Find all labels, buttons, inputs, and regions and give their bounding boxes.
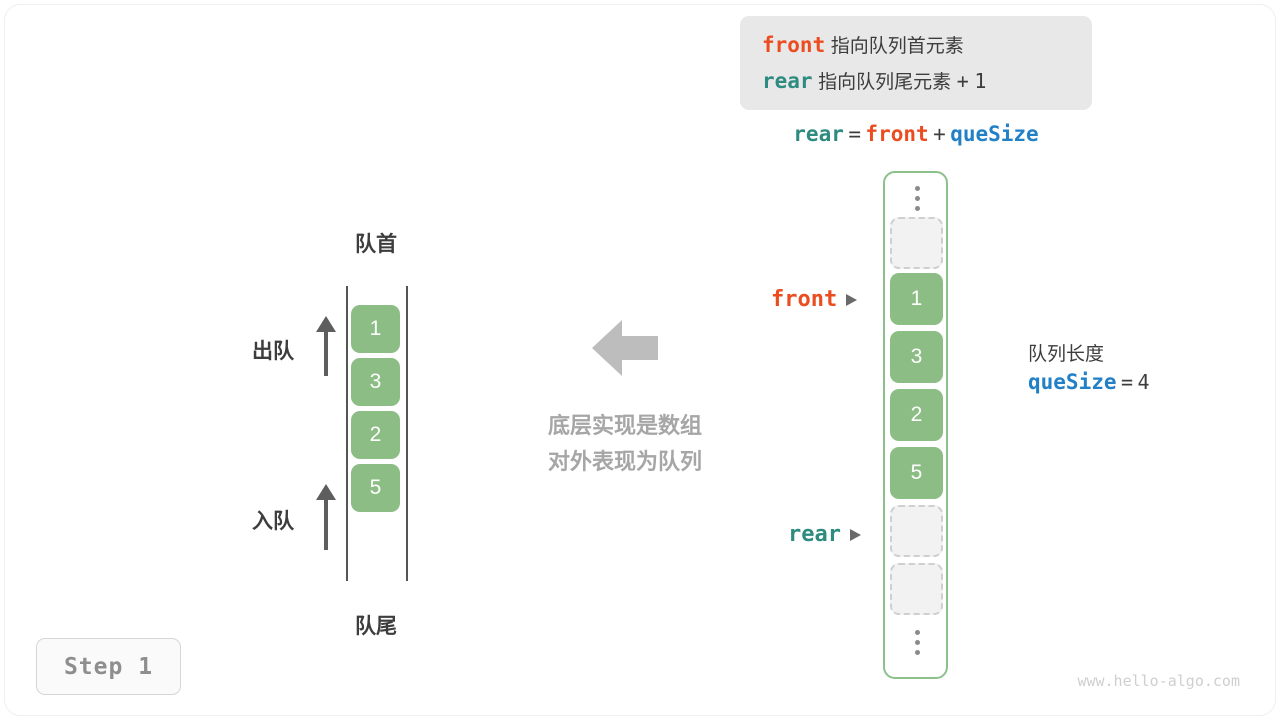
legend-front-text: 指向队列首元素	[831, 36, 964, 57]
queue-size-variable: queSize	[1028, 370, 1117, 394]
legend-rear-plus: +	[957, 69, 969, 93]
queue-cell-3: 5	[351, 464, 400, 512]
array-slot-empty-top	[890, 217, 943, 269]
array-slot-empty-tail	[890, 563, 943, 615]
rear-pointer-arrow-icon	[850, 529, 861, 541]
enqueue-label: 入队	[252, 505, 294, 535]
watermark: www.hello-algo.com	[1020, 672, 1240, 690]
front-pointer-arrow-icon	[846, 294, 857, 306]
array-slot-3: 5	[890, 447, 943, 499]
queue-tail-label: 队尾	[306, 610, 446, 640]
array-slot-2: 2	[890, 389, 943, 441]
legend-box: front 指向队列首元素 rear 指向队列尾元素 + 1	[740, 16, 1092, 110]
formula-quesize: queSize	[950, 122, 1039, 146]
queue-cell-2: 2	[351, 411, 400, 459]
array-container: 1 3 2 5	[883, 171, 948, 679]
dequeue-label: 出队	[252, 335, 294, 365]
center-caption: 底层实现是数组 对外表现为队列	[495, 408, 755, 480]
center-caption-line1: 底层实现是数组	[495, 408, 755, 444]
legend-rear-one: 1	[974, 69, 986, 93]
array-slot-0: 1	[890, 273, 943, 325]
legend-line-front: front 指向队列首元素	[762, 28, 1092, 64]
array-top-ellipsis-icon	[885, 181, 950, 215]
step-badge: Step 1	[36, 638, 181, 695]
queue-size-label: 队列长度	[1028, 340, 1150, 370]
queue-cell-0: 1	[351, 305, 400, 353]
queue-head-label: 队首	[306, 228, 446, 258]
formula-rear: rear	[793, 122, 844, 146]
array-slot-empty-rear	[890, 505, 943, 557]
legend-rear-text: 指向队列尾元素	[818, 72, 951, 93]
queue-size-value: 4	[1137, 370, 1149, 394]
formula-plus: +	[933, 122, 946, 146]
formula-front: front	[865, 122, 928, 146]
formula-equals: =	[848, 122, 861, 146]
array-bottom-ellipsis-icon	[885, 625, 950, 659]
legend-rear-keyword: rear	[762, 69, 813, 93]
rear-pointer-text: rear	[788, 522, 841, 547]
center-caption-line2: 对外表现为队列	[495, 444, 755, 480]
legend-front-keyword: front	[762, 33, 825, 57]
queue-rail-right	[406, 286, 408, 581]
queue-size-note: 队列长度 queSize = 4	[1028, 340, 1150, 394]
enqueue-arrow-icon	[314, 484, 338, 550]
rear-pointer-label: rear	[788, 522, 861, 547]
queue-rail-left	[346, 286, 348, 581]
front-pointer-text: front	[771, 287, 837, 312]
dequeue-arrow-icon	[314, 316, 338, 376]
left-pointing-arrow-icon	[592, 320, 658, 376]
diagram-canvas: front 指向队列首元素 rear 指向队列尾元素 + 1 rear = fr…	[0, 0, 1280, 720]
array-slot-1: 3	[890, 331, 943, 383]
formula-line: rear = front + queSize	[740, 118, 1092, 153]
queue-size-equals: =	[1121, 370, 1133, 394]
queue-cell-1: 3	[351, 358, 400, 406]
front-pointer-label: front	[771, 287, 857, 312]
legend-line-rear: rear 指向队列尾元素 + 1	[762, 64, 1092, 100]
